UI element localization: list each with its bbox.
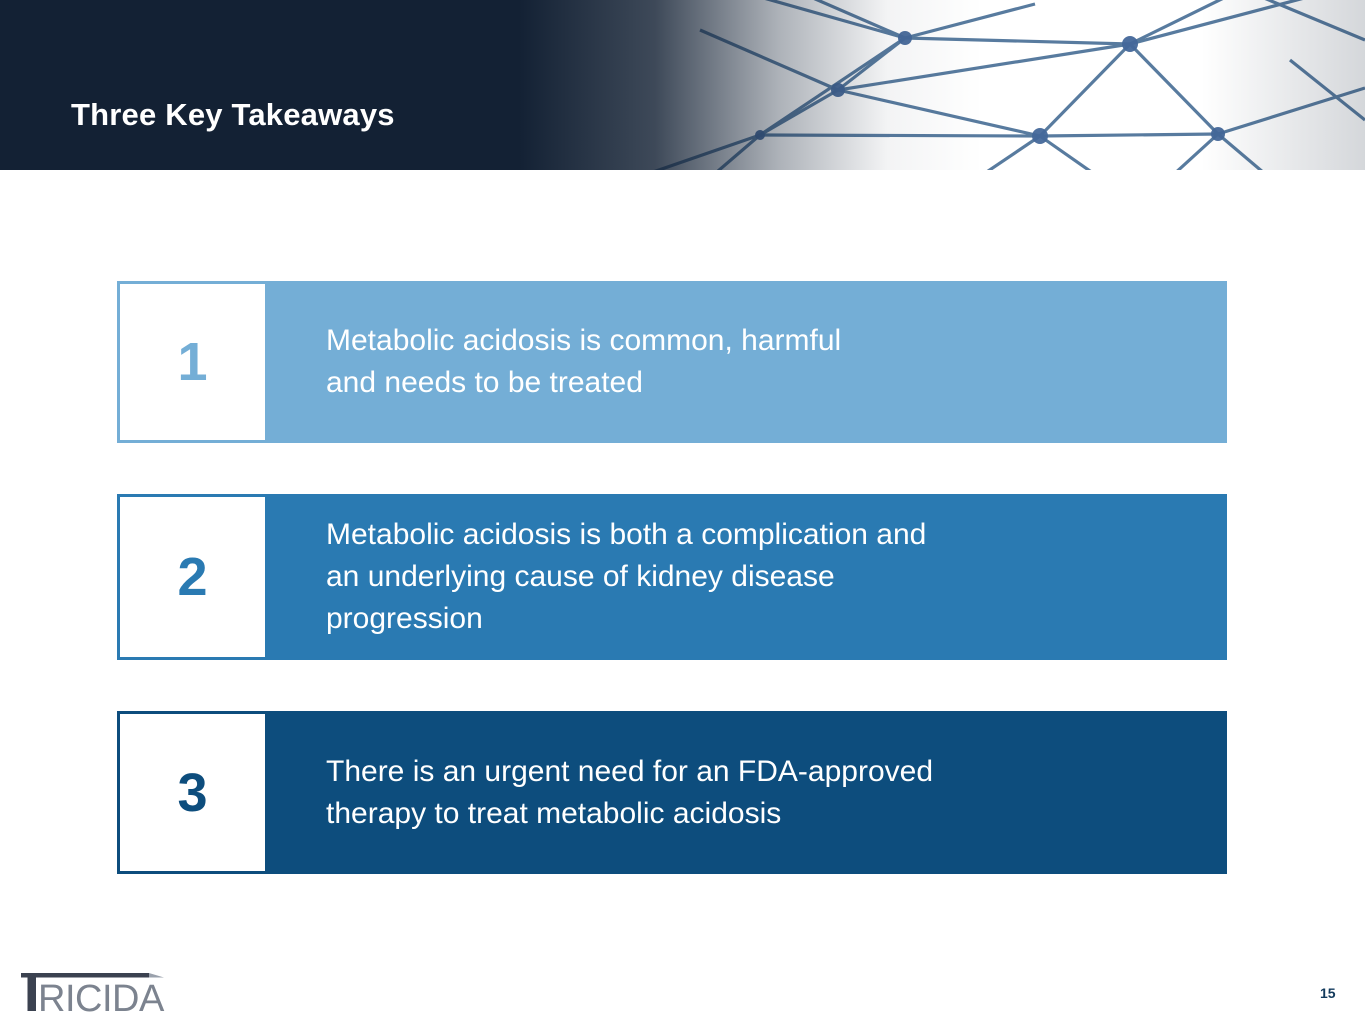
takeaway-text-2: Metabolic acidosis is both a complicatio… <box>326 514 926 640</box>
network-mesh-graphic <box>0 0 1365 170</box>
slide: Three Key Takeaways 1 Metabolic acidosis… <box>0 0 1365 1024</box>
takeaway-row-1: 1 Metabolic acidosis is common, harmful … <box>117 281 1227 443</box>
page-number: 15 <box>1320 985 1336 1001</box>
page-title: Three Key Takeaways <box>71 97 395 133</box>
svg-text:RICIDA: RICIDA <box>38 978 165 1018</box>
takeaway-body-3: There is an urgent need for an FDA-appro… <box>268 711 1227 874</box>
takeaway-text-1: Metabolic acidosis is common, harmful an… <box>326 320 841 404</box>
slide-header: Three Key Takeaways <box>0 0 1365 170</box>
takeaway-body-1: Metabolic acidosis is common, harmful an… <box>268 281 1227 443</box>
takeaway-number-box-3: 3 <box>117 711 268 874</box>
takeaway-row-2: 2 Metabolic acidosis is both a complicat… <box>117 494 1227 660</box>
takeaway-number-2: 2 <box>177 550 207 604</box>
takeaway-number-3: 3 <box>177 766 207 820</box>
takeaway-text-3: There is an urgent need for an FDA-appro… <box>326 751 933 835</box>
takeaway-number-1: 1 <box>177 335 207 389</box>
takeaway-number-box-2: 2 <box>117 494 268 660</box>
takeaway-row-3: 3 There is an urgent need for an FDA-app… <box>117 711 1227 874</box>
tricida-logo: RICIDA <box>18 966 168 1018</box>
takeaway-body-2: Metabolic acidosis is both a complicatio… <box>268 494 1227 660</box>
takeaway-number-box-1: 1 <box>117 281 268 443</box>
